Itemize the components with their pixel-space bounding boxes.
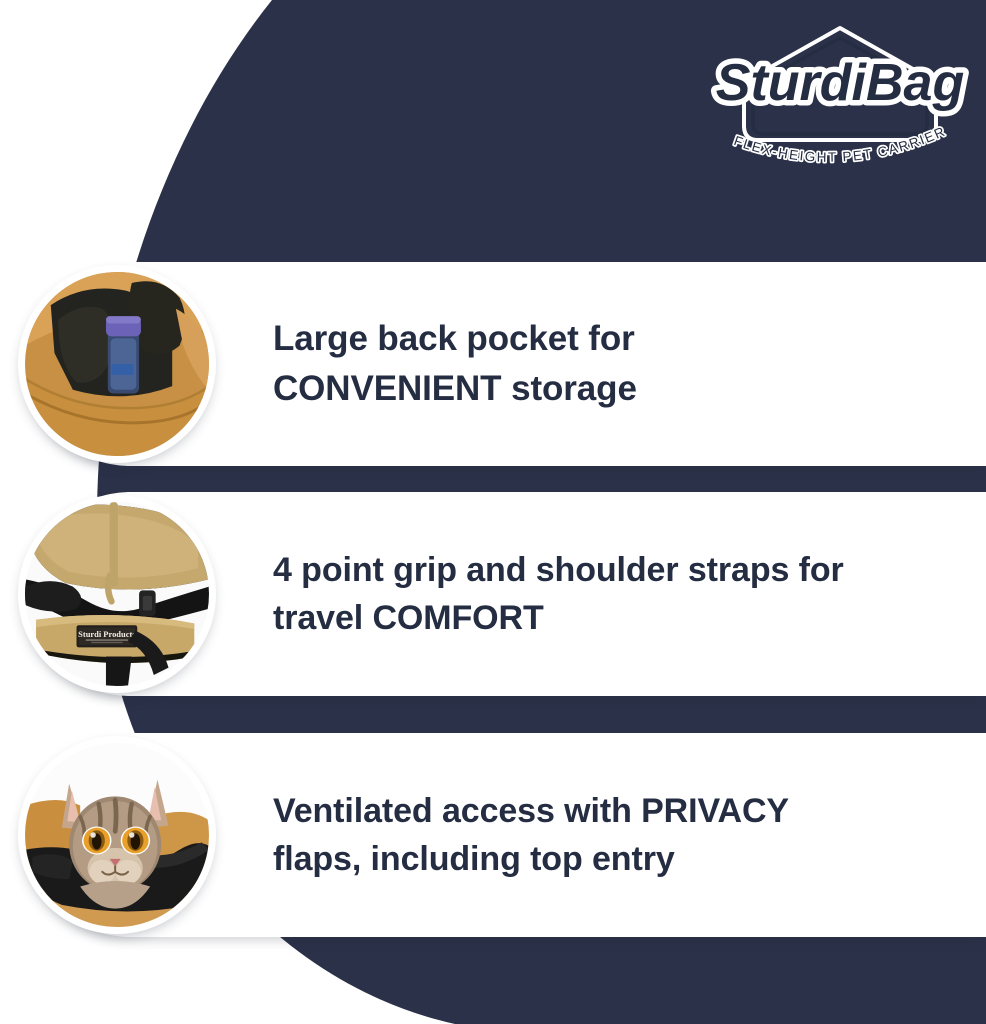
feature-text-ventilated-access: Ventilated access with PRIVACY flaps, in… bbox=[273, 787, 976, 884]
brand-tagline: FLEX-HEIGHT PET CARRIER bbox=[732, 124, 948, 165]
feature-line-2: flaps, including top entry bbox=[273, 835, 976, 883]
feature-line-1: Ventilated access with PRIVACY bbox=[273, 787, 976, 835]
brand-logo: SturdiBag FLEX-HEIGHT PET CARRIER bbox=[700, 22, 980, 172]
feature-thumbnail-frame bbox=[18, 736, 216, 934]
feature-text-back-pocket: Large back pocket for CONVENIENT storage bbox=[273, 314, 976, 413]
product-label-text: Sturdi Products bbox=[78, 629, 136, 639]
feature-thumbnail-frame: Sturdi Products bbox=[18, 495, 216, 693]
feature-text-grip-straps: 4 point grip and shoulder straps for tra… bbox=[273, 546, 976, 643]
product-feature-poster: SturdiBag FLEX-HEIGHT PET CARRIER bbox=[0, 0, 986, 1024]
brand-wordmark: SturdiBag bbox=[716, 54, 964, 112]
back-pocket-photo bbox=[25, 272, 209, 456]
feature-line-2: travel COMFORT bbox=[273, 594, 976, 642]
feature-card-grip-straps: Sturdi Products 4 point grip and shoulde… bbox=[28, 492, 986, 696]
feature-card-ventilated-access: Ventilated access with PRIVACY flaps, in… bbox=[28, 733, 986, 937]
shoulder-strap-photo: Sturdi Products bbox=[25, 502, 209, 686]
kitten-in-carrier-photo bbox=[25, 743, 209, 927]
feature-thumbnail-frame bbox=[18, 265, 216, 463]
feature-line-1: Large back pocket for bbox=[273, 314, 976, 364]
feature-card-back-pocket: Large back pocket for CONVENIENT storage bbox=[28, 262, 986, 466]
feature-line-2: CONVENIENT storage bbox=[273, 364, 976, 414]
feature-line-1: 4 point grip and shoulder straps for bbox=[273, 546, 976, 594]
